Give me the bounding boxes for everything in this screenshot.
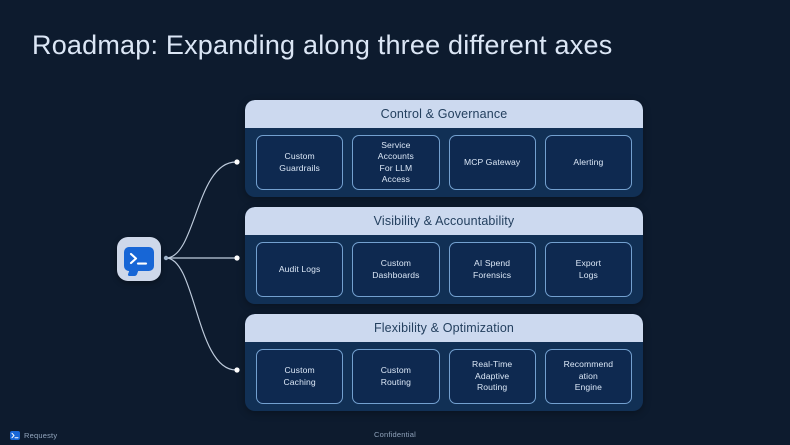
slide-footer: Requesty Confidential: [0, 421, 790, 445]
connector-endpoint-0: [234, 159, 239, 164]
roadmap-card[interactable]: Custom Guardrails: [256, 135, 343, 190]
roadmap-card[interactable]: Custom Caching: [256, 349, 343, 404]
roadmap-card[interactable]: Recommend ation Engine: [545, 349, 632, 404]
roadmap-card[interactable]: Custom Routing: [352, 349, 439, 404]
panel-header: Flexibility & Optimization: [245, 314, 643, 342]
card-label: Audit Logs: [279, 264, 321, 275]
roadmap-card[interactable]: Audit Logs: [256, 242, 343, 297]
roadmap-card[interactable]: AI Spend Forensics: [449, 242, 536, 297]
roadmap-card[interactable]: Service Accounts For LLM Access: [352, 135, 439, 190]
card-label: Custom Dashboards: [372, 258, 419, 281]
card-label: Export Logs: [576, 258, 601, 281]
panel-card-row: Audit Logs Custom Dashboards AI Spend Fo…: [245, 235, 643, 304]
connector-path-0: [166, 162, 236, 258]
card-label: Service Accounts For LLM Access: [378, 140, 414, 186]
connector-path-2: [166, 258, 236, 370]
panel-card-row: Custom Caching Custom Routing Real-Time …: [245, 342, 643, 411]
roadmap-card[interactable]: Alerting: [545, 135, 632, 190]
card-label: Recommend ation Engine: [564, 359, 614, 393]
card-label: AI Spend Forensics: [473, 258, 511, 281]
card-label: Alerting: [573, 157, 603, 168]
panel-title: Visibility & Accountability: [374, 214, 515, 228]
panel-header: Control & Governance: [245, 100, 643, 128]
panel-header: Visibility & Accountability: [245, 207, 643, 235]
roadmap-card[interactable]: Custom Dashboards: [352, 242, 439, 297]
panel-title: Flexibility & Optimization: [374, 321, 514, 335]
roadmap-panel-visibility-accountability: Visibility & Accountability Audit Logs C…: [245, 207, 643, 304]
panel-title: Control & Governance: [381, 107, 508, 121]
card-label: Custom Routing: [381, 365, 411, 388]
card-label: Custom Caching: [284, 365, 316, 388]
roadmap-panel-control-governance: Control & Governance Custom Guardrails S…: [245, 100, 643, 197]
connector-endpoint-2: [234, 367, 239, 372]
roadmap-panel-flexibility-optimization: Flexibility & Optimization Custom Cachin…: [245, 314, 643, 411]
panel-card-row: Custom Guardrails Service Accounts For L…: [245, 128, 643, 197]
slide-canvas: Roadmap: Expanding along three different…: [0, 0, 790, 445]
page-title: Roadmap: Expanding along three different…: [32, 30, 612, 61]
confidentiality-label: Confidential: [0, 430, 790, 439]
roadmap-card[interactable]: Real-Time Adaptive Routing: [449, 349, 536, 404]
card-label: MCP Gateway: [464, 157, 520, 168]
roadmap-card[interactable]: Export Logs: [545, 242, 632, 297]
connector-origin-dot: [164, 256, 168, 260]
terminal-chat-bubble-icon: [124, 247, 154, 271]
card-label: Custom Guardrails: [279, 151, 320, 174]
connector-endpoint-1: [234, 255, 239, 260]
roadmap-card[interactable]: MCP Gateway: [449, 135, 536, 190]
card-label: Real-Time Adaptive Routing: [472, 359, 512, 393]
source-node-icon[interactable]: [117, 237, 161, 281]
